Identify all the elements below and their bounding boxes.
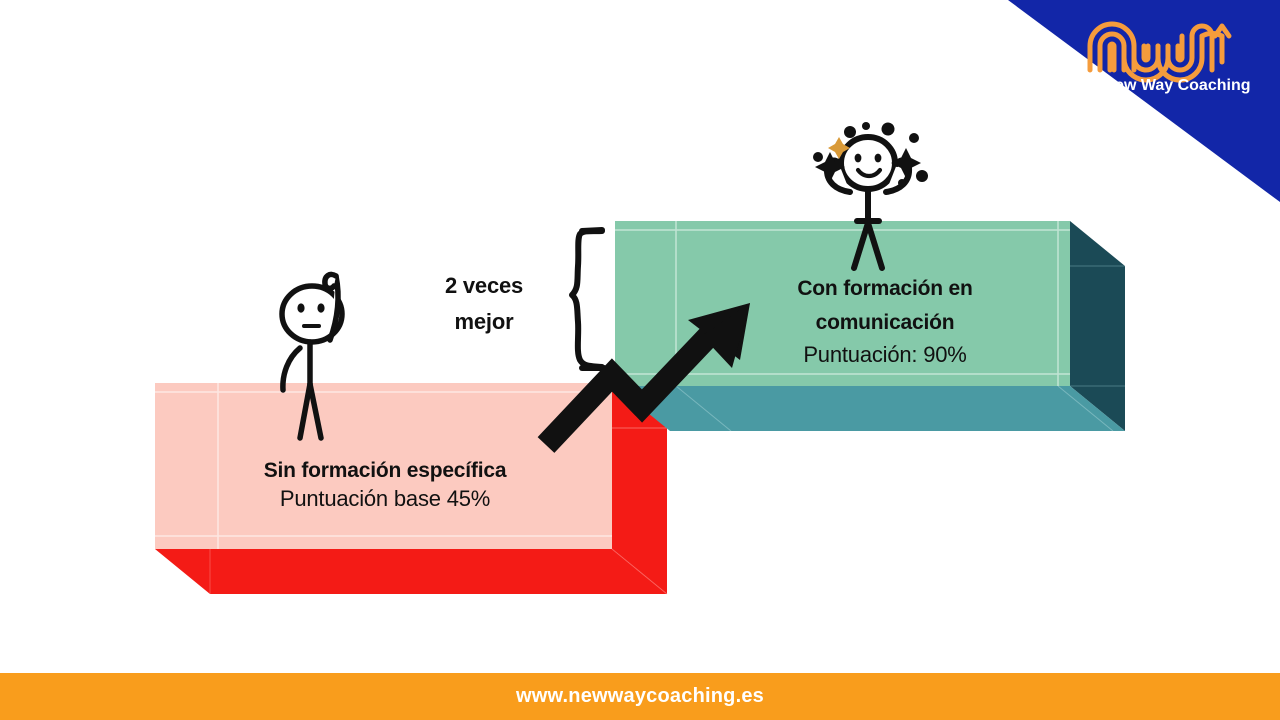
block-baseline-bottom bbox=[155, 549, 667, 594]
block-baseline-corner-line bbox=[612, 549, 667, 594]
footer-bar: www.newwaycoaching.es bbox=[0, 673, 1280, 720]
block-trained-title-line2: comunicación bbox=[760, 306, 1010, 340]
block-trained-label: Con formación en comunicación Puntuación… bbox=[760, 272, 1010, 370]
brand-logo: New Way Coaching bbox=[1082, 14, 1272, 96]
footer-website-url[interactable]: www.newwaycoaching.es bbox=[516, 685, 764, 708]
block-baseline-value: Puntuación base 45% bbox=[155, 485, 615, 514]
multiplier-line1: 2 veces bbox=[418, 268, 550, 304]
nw-monogram-icon bbox=[1090, 24, 1222, 80]
brand-name: New Way Coaching bbox=[1104, 77, 1251, 94]
figure-sad-eye-left bbox=[297, 303, 304, 312]
block-trained-side bbox=[1070, 221, 1125, 431]
block-baseline-title: Sin formación específica bbox=[155, 458, 615, 485]
stick-figure-celebrating-icon bbox=[794, 120, 942, 272]
figure-happy-eye-left bbox=[855, 154, 862, 163]
growth-arrow-icon bbox=[536, 298, 776, 458]
multiplier-line2: mejor bbox=[418, 304, 550, 340]
multiplier-callout: 2 veces mejor bbox=[418, 268, 550, 339]
block-trained-side-gridlines bbox=[1070, 266, 1125, 386]
block-baseline-label: Sin formación específica Puntuación base… bbox=[155, 458, 615, 513]
block-trained-title-line1: Con formación en bbox=[760, 272, 1010, 306]
block-trained-value: Puntuación: 90% bbox=[760, 341, 1010, 370]
stick-figure-pointing-up-icon bbox=[264, 256, 376, 444]
figure-happy-eye-right bbox=[875, 154, 882, 163]
slide-canvas: Sin formación específica Puntuación base… bbox=[0, 0, 1280, 720]
figure-sad-eye-right bbox=[317, 303, 324, 312]
